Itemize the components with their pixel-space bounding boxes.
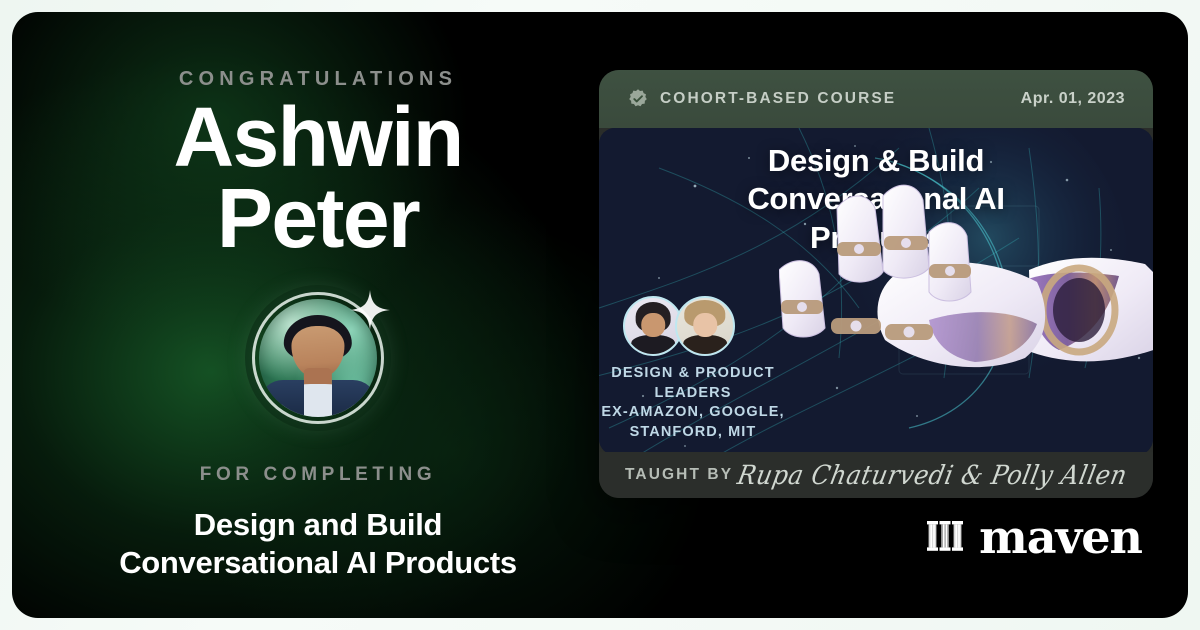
maven-wordmark: maven <box>979 514 1142 560</box>
instructor-2-body <box>683 335 727 354</box>
instructor-2-face <box>693 313 717 338</box>
instructor-avatars <box>617 296 777 356</box>
instructor-avatar-1 <box>623 296 683 356</box>
course-card-footer: TAUGHT BY Rupa Chaturvedi & Polly Allen <box>599 452 1153 498</box>
maven-pillars-icon <box>925 517 965 557</box>
course-preview-card[interactable]: COHORT-BASED COURSE Apr. 01, 2023 <box>599 70 1153 498</box>
course-date: Apr. 01, 2023 <box>1021 90 1125 108</box>
credentials-line-2: LEADERS <box>599 384 791 404</box>
recipient-last-name: Peter <box>173 178 462 259</box>
recipient-first-name: Ashwin <box>173 90 462 184</box>
for-completing-label: FOR COMPLETING <box>200 464 436 486</box>
course-title-line-2: Conversational AI Products <box>119 544 517 582</box>
share-card-frame: CONGRATULATIONS Ashwin Peter <box>0 0 1200 630</box>
taught-by-label: TAUGHT BY <box>625 466 733 484</box>
instructor-1-body <box>631 335 675 354</box>
instructor-avatar-2 <box>675 296 735 356</box>
course-title-line-1: Design and Build <box>194 507 442 542</box>
verified-seal-icon <box>627 88 649 110</box>
robot-hand-illustration <box>779 152 1153 452</box>
course-card-header: COHORT-BASED COURSE Apr. 01, 2023 <box>599 70 1153 128</box>
credentials-line-1: DESIGN & PRODUCT <box>599 364 791 384</box>
course-type-label: COHORT-BASED COURSE <box>660 90 896 108</box>
maven-logo[interactable]: maven <box>925 514 1142 560</box>
recipient-name: Ashwin Peter <box>173 97 462 258</box>
avatar <box>252 292 384 424</box>
instructor-credentials: DESIGN & PRODUCT LEADERS EX-AMAZON, GOOG… <box>599 364 791 443</box>
avatar-ring <box>252 292 384 424</box>
course-thumbnail: Design & Build Conversational AI Product… <box>599 128 1153 455</box>
credentials-line-4: STANFORD, MIT <box>599 423 791 443</box>
congratulations-label: CONGRATULATIONS <box>179 68 457 91</box>
course-title: Design and Build Conversational AI Produ… <box>119 506 517 582</box>
instructor-1-face <box>641 313 665 338</box>
instructor-signature: Rupa Chaturvedi & Polly Allen <box>735 460 1130 491</box>
certificate-details: CONGRATULATIONS Ashwin Peter <box>28 12 608 618</box>
certificate-card: CONGRATULATIONS Ashwin Peter <box>12 12 1188 618</box>
credentials-line-3: EX-AMAZON, GOOGLE, <box>599 403 791 423</box>
